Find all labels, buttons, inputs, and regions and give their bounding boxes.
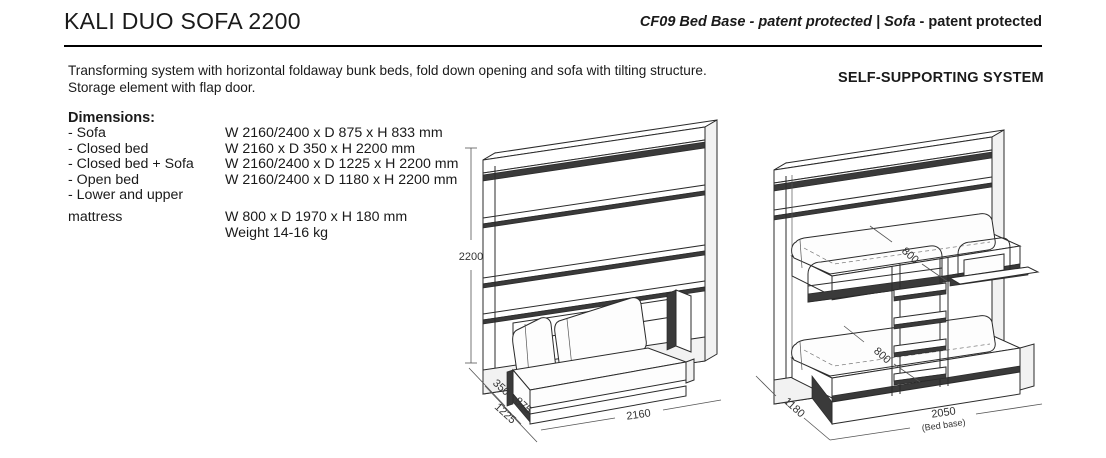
dimension-label: - Sofa (68, 126, 225, 142)
dimension-value: Weight 14-16 kg (225, 226, 488, 242)
dimensions-heading: Dimensions: (68, 110, 155, 126)
description-line-2: Storage element with flap door. (68, 80, 778, 97)
header-divider (64, 45, 1042, 47)
table-row: - Sofa W 2160/2400 x D 875 x H 833 mm (68, 126, 488, 142)
patent-notice-separator: - (916, 14, 929, 30)
dimension-value: W 800 x D 1970 x H 180 mm (225, 210, 488, 226)
dimension-label: - Open bed (68, 173, 225, 189)
self-supporting-system-label: SELF-SUPPORTING SYSTEM (838, 70, 1044, 86)
dimension-height-2200: 2200 (459, 251, 483, 263)
dimension-label (68, 226, 225, 242)
dimensions-table: - Sofa W 2160/2400 x D 875 x H 833 mm - … (68, 126, 488, 241)
drawing-open-bunk-beds: 800 800 1180 2050 (Bed base) (752, 118, 1082, 438)
drawing-closed-bed-sofa: 2200 (455, 118, 765, 438)
table-row: - Closed bed + Sofa W 2160/2400 x D 1225… (68, 157, 488, 173)
dimension-width-note: (Bed base) (921, 417, 966, 433)
closed-bed-sofa-svg: 2200 (455, 118, 765, 438)
dimension-label: - Lower and upper (68, 188, 225, 204)
header: KALI DUO SOFA 2200 CF09 Bed Base - paten… (64, 8, 1042, 46)
dimension-value: W 2160/2400 x D 1180 x H 2200 mm (225, 173, 488, 189)
table-row: Weight 14-16 kg (68, 226, 488, 242)
dimension-label: - Closed bed (68, 142, 225, 158)
description-line-1: Transforming system with horizontal fold… (68, 63, 778, 80)
dimension-label: mattress (68, 210, 225, 226)
dimension-value (225, 188, 488, 204)
table-row: - Closed bed W 2160 x D 350 x H 2200 mm (68, 142, 488, 158)
patent-notice-suffix: patent protected (928, 14, 1042, 30)
dimension-value: W 2160/2400 x D 1225 x H 2200 mm (225, 157, 488, 173)
dimension-width-2160: 2160 (626, 407, 652, 422)
table-row: mattress W 800 x D 1970 x H 180 mm (68, 210, 488, 226)
dimension-value: W 2160 x D 350 x H 2200 mm (225, 142, 488, 158)
height-dimension: 2200 (459, 148, 483, 363)
page-title: KALI DUO SOFA 2200 (64, 8, 301, 35)
table-row: - Lower and upper (68, 188, 488, 204)
description-block: Transforming system with horizontal fold… (68, 63, 778, 96)
table-row: - Open bed W 2160/2400 x D 1180 x H 2200… (68, 173, 488, 189)
dimension-value: W 2160/2400 x D 875 x H 833 mm (225, 126, 488, 142)
patent-notice-prefix: CF09 Bed Base - patent protected | Sofa (640, 14, 916, 30)
dimension-label: - Closed bed + Sofa (68, 157, 225, 173)
open-bunk-beds-svg: 800 800 1180 2050 (Bed base) (752, 118, 1082, 438)
patent-notice: CF09 Bed Base - patent protected | Sofa … (640, 14, 1042, 30)
